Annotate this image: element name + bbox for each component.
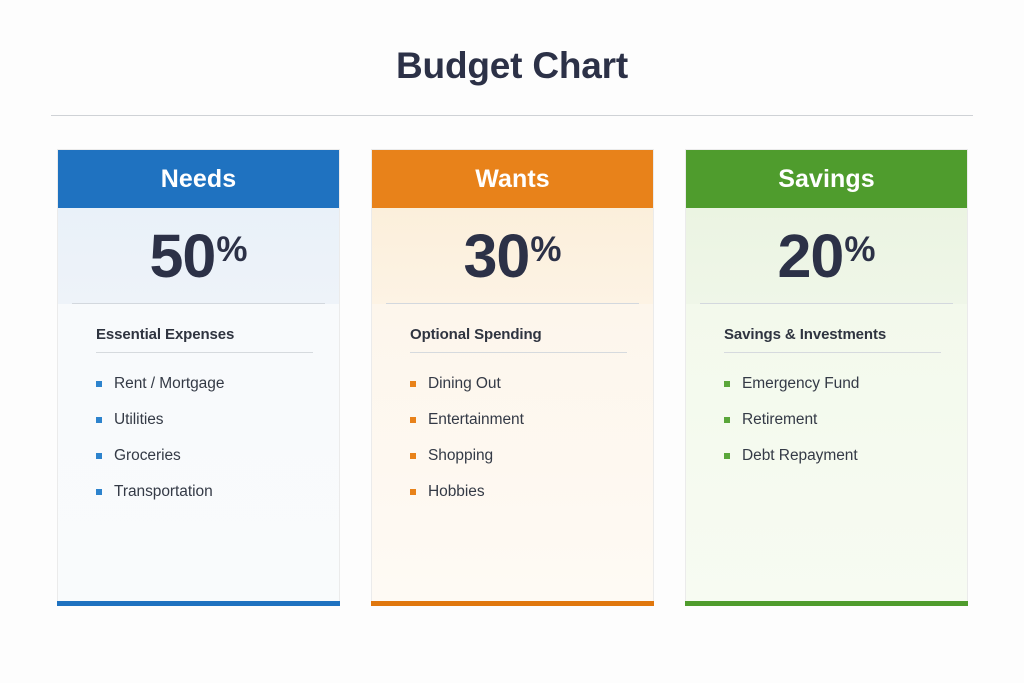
card-body-savings: Savings & Investments Emergency Fund Ret… [686,304,967,601]
percent-value-needs: 50 [150,226,216,287]
percent-value-savings: 20 [778,226,844,287]
list-item[interactable]: Entertainment [410,402,627,438]
budget-chart-page: Budget Chart Needs 50 % Essential Expens… [0,0,1024,683]
title-divider [51,115,973,116]
list-item[interactable]: Transportation [96,474,313,510]
list-item[interactable]: Dining Out [410,366,627,402]
card-percent-savings: 20 % [686,208,967,304]
list-item[interactable]: Hobbies [410,474,627,510]
list-item[interactable]: Rent / Mortgage [96,366,313,402]
percent-sign-needs: % [216,232,247,267]
budget-card-needs[interactable]: Needs 50 % Essential Expenses Rent / Mor… [57,149,340,601]
square-bullet-icon [410,417,416,423]
card-body-needs: Essential Expenses Rent / Mortgage Utili… [58,304,339,601]
page-title: Budget Chart [0,46,1024,87]
list-item-label: Emergency Fund [742,375,859,393]
card-accent-bar-wants [371,601,654,606]
square-bullet-icon [410,381,416,387]
list-item-label: Debt Repayment [742,447,858,465]
square-bullet-icon [410,453,416,459]
square-bullet-icon [410,489,416,495]
percent-sign-wants: % [530,232,561,267]
card-header-savings: Savings [686,150,967,208]
percent-divider-savings [700,303,953,304]
card-body-wants: Optional Spending Dining Out Entertainme… [372,304,653,601]
list-item[interactable]: Groceries [96,438,313,474]
list-item-label: Transportation [114,483,213,501]
item-list-wants: Dining Out Entertainment Shopping Hobbie… [410,366,627,510]
card-accent-bar-needs [57,601,340,606]
list-item[interactable]: Shopping [410,438,627,474]
square-bullet-icon [96,381,102,387]
square-bullet-icon [96,417,102,423]
square-bullet-icon [96,453,102,459]
budget-card-savings[interactable]: Savings 20 % Savings & Investments Emerg… [685,149,968,601]
card-subtitle-savings: Savings & Investments [724,326,941,353]
list-item-label: Retirement [742,411,817,429]
card-subtitle-wants: Optional Spending [410,326,627,353]
list-item-label: Shopping [428,447,493,465]
square-bullet-icon [724,381,730,387]
percent-divider-wants [386,303,639,304]
item-list-savings: Emergency Fund Retirement Debt Repayment [724,366,941,474]
list-item-label: Hobbies [428,483,485,501]
list-item[interactable]: Emergency Fund [724,366,941,402]
list-item[interactable]: Utilities [96,402,313,438]
list-item[interactable]: Retirement [724,402,941,438]
percent-value-wants: 30 [464,226,530,287]
card-header-needs: Needs [58,150,339,208]
list-item-label: Entertainment [428,411,524,429]
list-item[interactable]: Debt Repayment [724,438,941,474]
card-subtitle-needs: Essential Expenses [96,326,313,353]
list-item-label: Dining Out [428,375,501,393]
square-bullet-icon [96,489,102,495]
budget-cards-row: Needs 50 % Essential Expenses Rent / Mor… [57,149,968,601]
percent-sign-savings: % [844,232,875,267]
card-accent-bar-savings [685,601,968,606]
card-percent-needs: 50 % [58,208,339,304]
square-bullet-icon [724,417,730,423]
list-item-label: Utilities [114,411,164,429]
list-item-label: Groceries [114,447,181,465]
percent-divider-needs [72,303,325,304]
card-header-wants: Wants [372,150,653,208]
square-bullet-icon [724,453,730,459]
budget-card-wants[interactable]: Wants 30 % Optional Spending Dining Out … [371,149,654,601]
item-list-needs: Rent / Mortgage Utilities Groceries Tran… [96,366,313,510]
list-item-label: Rent / Mortgage [114,375,224,393]
card-percent-wants: 30 % [372,208,653,304]
